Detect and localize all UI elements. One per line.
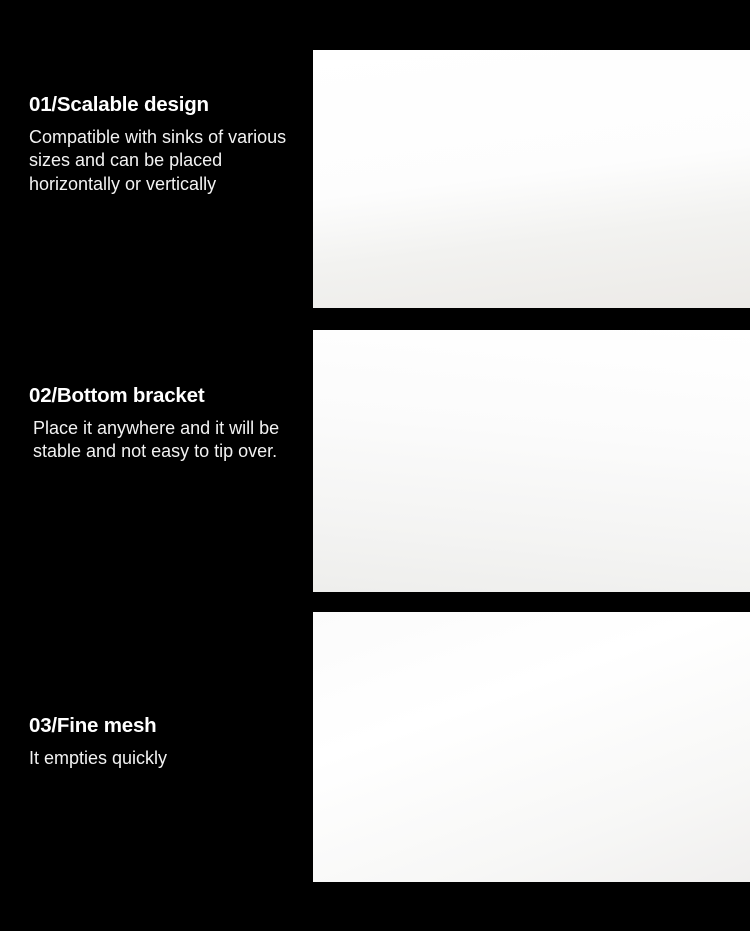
feature-body-02: Place it anywhere and it will be stable …: [0, 417, 313, 465]
feature-text-block-02: 02/Bottom bracket Place it anywhere and …: [0, 384, 313, 464]
mesh-surface: [313, 612, 750, 882]
feature-heading-02: 02/Bottom bracket: [0, 384, 313, 408]
feature-body-01: Compatible with sinks of various sizes a…: [0, 126, 313, 197]
feature-image-01: [313, 50, 750, 308]
product-feature-infographic: 01/Scalable design Compatible with sinks…: [0, 0, 750, 931]
feature-text-block-01: 01/Scalable design Compatible with sinks…: [0, 93, 313, 197]
countertop-surface: [313, 50, 750, 308]
feature-image-02: [313, 330, 750, 592]
feature-image-03: [313, 612, 750, 882]
feature-heading-03: 03/Fine mesh: [0, 714, 313, 738]
countertop-surface: [313, 330, 750, 592]
feature-body-03: It empties quickly: [0, 747, 313, 771]
feature-text-block-03: 03/Fine mesh It empties quickly: [0, 714, 313, 770]
feature-heading-01: 01/Scalable design: [0, 93, 313, 117]
